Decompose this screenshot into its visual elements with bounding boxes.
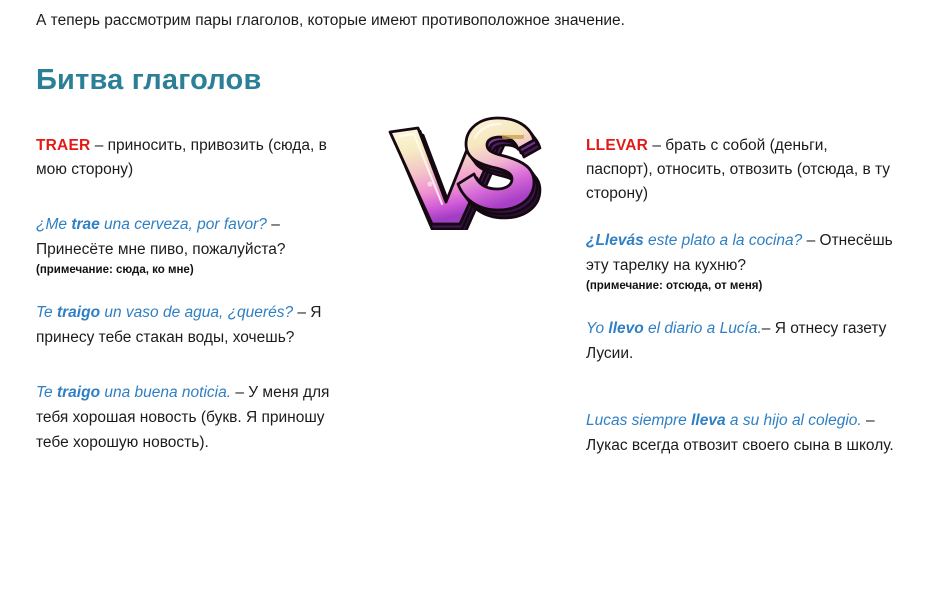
spanish-post: el diario a Lucía. <box>644 320 762 337</box>
example-item: ¿Llevás este plato a la cocina? – Отнесё… <box>586 228 896 294</box>
spanish-verb: ¿Llevás <box>586 232 644 249</box>
definition-dash: – <box>648 137 665 154</box>
definition-line: LLEVAR – брать с собой (деньги, паспорт)… <box>586 134 896 206</box>
example-sentence: Yo llevo el diario a Lucía.– Я отнесу га… <box>586 316 896 366</box>
spanish-post: a su hijo al colegio. <box>726 412 862 429</box>
spanish-post: un vaso de agua, ¿querés? <box>100 304 293 321</box>
spanish-pre: Yo <box>586 320 608 337</box>
spanish-verb: traigo <box>57 304 100 321</box>
spanish-verb: trae <box>71 216 99 233</box>
spanish-pre: Te <box>36 304 57 321</box>
spanish-phrase: ¿Llevás este plato a la cocina? <box>586 232 802 249</box>
example-item: Yo llevo el diario a Lucía.– Я отнесу га… <box>586 316 896 366</box>
definition-block-llevar: LLEVAR – брать с собой (деньги, паспорт)… <box>586 134 896 206</box>
spanish-phrase: Lucas siempre lleva a su hijo al colegio… <box>586 412 862 429</box>
spanish-phrase: Te traigo un vaso de agua, ¿querés? <box>36 304 293 321</box>
spanish-phrase: ¿Me trae una cerveza, por favor? <box>36 216 267 233</box>
spanish-post: una buena noticia. <box>100 384 231 401</box>
example-sentence: ¿Me trae una cerveza, por favor? – Прине… <box>36 212 336 262</box>
example-sentence: Te traigo una buena noticia. – У меня дл… <box>36 380 336 455</box>
verb-headword-llevar: LLEVAR <box>586 137 648 154</box>
example-note: (примечание: сюда, ко мне) <box>36 263 336 278</box>
spanish-pre: ¿Me <box>36 216 71 233</box>
page-title: Битва глаголов <box>36 62 261 98</box>
example-note: (примечание: отсюда, от меня) <box>586 279 896 294</box>
spanish-phrase: Te traigo una buena noticia. <box>36 384 231 401</box>
example-item: Lucas siempre lleva a su hijo al colegio… <box>586 408 896 458</box>
spanish-post: este plato a la cocina? <box>644 232 803 249</box>
definition-dash: – <box>90 137 107 154</box>
spanish-verb: llevo <box>608 320 643 337</box>
example-item: ¿Me trae una cerveza, por favor? – Прине… <box>36 212 336 278</box>
example-item: Te traigo un vaso de agua, ¿querés? – Я … <box>36 300 336 350</box>
spanish-phrase: Yo llevo el diario a Lucía. <box>586 320 762 337</box>
example-item: Te traigo una buena noticia. – У меня дл… <box>36 380 336 455</box>
spanish-pre: Te <box>36 384 57 401</box>
spanish-verb: lleva <box>691 412 725 429</box>
example-sentence: Te traigo un vaso de agua, ¿querés? – Я … <box>36 300 336 350</box>
example-sentence: ¿Llevás este plato a la cocina? – Отнесё… <box>586 228 896 278</box>
intro-paragraph: А теперь рассмотрим пары глаголов, котор… <box>36 11 896 31</box>
example-sentence: Lucas siempre lleva a su hijo al colegio… <box>586 408 896 458</box>
verb-headword-traer: TRAER <box>36 137 90 154</box>
definition-block-traer: TRAER – приносить, привозить (сюда, в мо… <box>36 134 336 182</box>
spanish-verb: traigo <box>57 384 100 401</box>
column-llevar: LLEVAR – брать с собой (деньги, паспорт)… <box>586 134 896 480</box>
spanish-post: una cerveza, por favor? <box>100 216 267 233</box>
column-traer: TRAER – приносить, привозить (сюда, в мо… <box>36 134 336 477</box>
spanish-pre: Lucas siempre <box>586 412 691 429</box>
definition-line: TRAER – приносить, привозить (сюда, в мо… <box>36 134 336 182</box>
vs-badge-graphic <box>374 106 554 230</box>
